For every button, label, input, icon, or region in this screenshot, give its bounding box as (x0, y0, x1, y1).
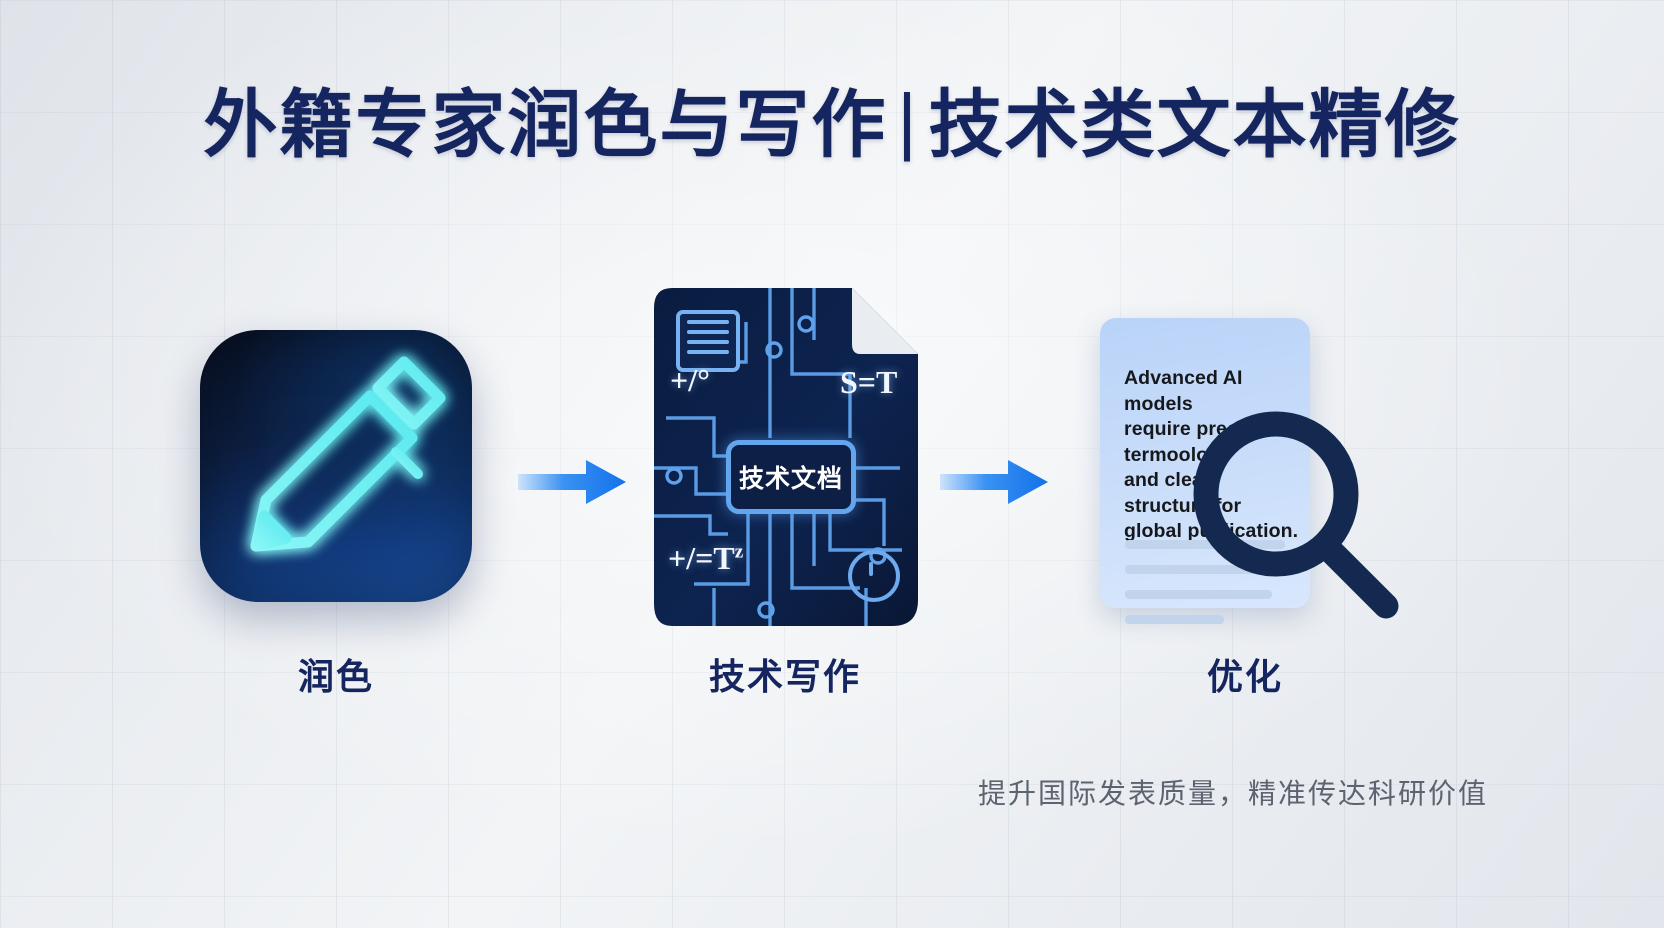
magnifier-icon (1188, 406, 1408, 626)
step-technical-writing-icon[interactable]: +/° S=T +/=Tz 技术文档 (654, 288, 918, 626)
arrow-right-icon-2 (940, 454, 1050, 515)
arrow-right-icon-1 (518, 454, 628, 515)
formula-top-left: +/° (670, 362, 710, 399)
title-left: 外籍专家润色与写作 (203, 83, 887, 166)
step-label-optimize: 优化 (1090, 648, 1400, 700)
title-right: 技术类文本精修 (929, 83, 1461, 166)
page-title: 外籍专家润色与写作|技术类文本精修 (0, 86, 1664, 164)
step-optimize-icon[interactable]: Advanced AI models require precise termo… (1090, 318, 1400, 628)
process-flow: +/° S=T +/=Tz 技术文档 (0, 282, 1664, 642)
chip-label: 技术文档 (726, 440, 856, 514)
footer-tagline: 提升国际发表质量，精准传达科研价值 (978, 772, 1488, 812)
formula-top-right: S=T (840, 364, 897, 401)
clock-icon (848, 550, 900, 602)
step-label-polish: 润色 (196, 648, 476, 700)
step-label-technical-writing: 技术写作 (640, 648, 930, 700)
formula-bottom-left: +/=Tz (668, 540, 743, 577)
title-divider: | (887, 79, 928, 162)
step-polish-icon-tile[interactable] (200, 330, 472, 602)
pencil-icon (200, 330, 472, 602)
slide-canvas: 外籍专家润色与写作|技术类文本精修 (0, 0, 1664, 928)
